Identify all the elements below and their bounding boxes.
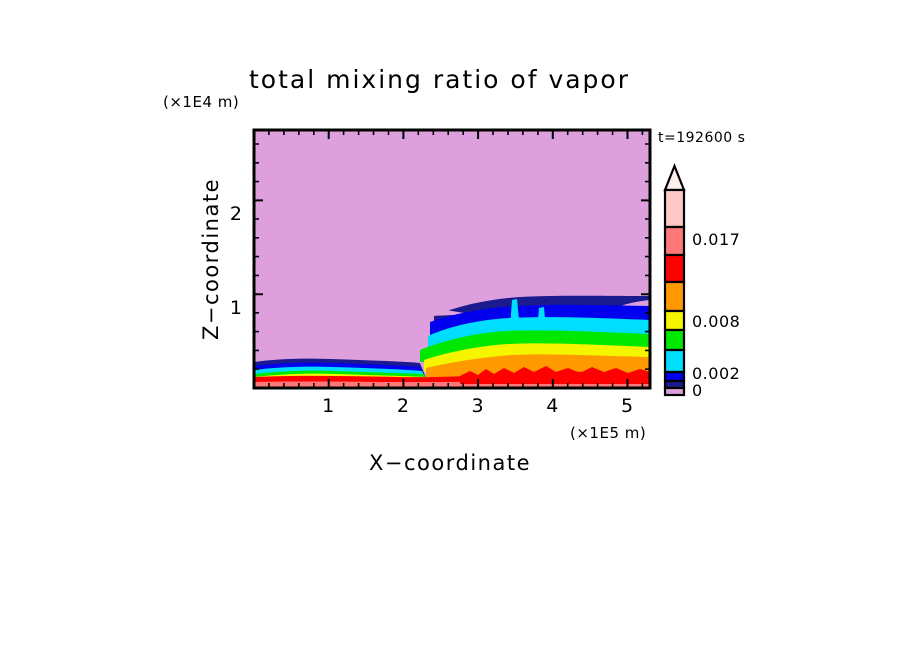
- colorbar-band-0.006: [665, 311, 684, 330]
- colorbar-band-0.014: [665, 227, 684, 255]
- page-title: total mixing ratio of vapor: [249, 65, 630, 94]
- colorbar-band-0.011: [665, 255, 684, 282]
- colorbar-band-0.017: [665, 190, 684, 227]
- x-tick-label-1: 1: [322, 395, 335, 417]
- contour-figure: total mixing ratio of vapor (×1E4 m) t=1…: [0, 0, 904, 654]
- colorbar-band-0.001: [665, 372, 684, 381]
- y-tick-label-2: 2: [230, 203, 243, 225]
- y-axis-unit-label: (×1E4 m): [163, 93, 239, 111]
- x-axis-title: X−coordinate: [369, 451, 531, 475]
- colorbar-label-0.008: 0.008: [692, 312, 740, 331]
- colorbar-band-0.004: [665, 330, 684, 350]
- x-tick-label-2: 2: [397, 395, 410, 417]
- y-axis-title: Z−coordinate: [199, 178, 223, 340]
- y-tick-label-1: 1: [230, 297, 243, 319]
- colorbar-band-0: [665, 388, 684, 395]
- colorbar-band-0.002: [665, 350, 684, 372]
- x-tick-label-4: 4: [546, 395, 559, 417]
- contour-plot-area: 1 2 3 4 5 1 2: [230, 130, 650, 417]
- colorbar-label-0.017: 0.017: [692, 230, 740, 249]
- time-annotation: t=192600 s: [658, 130, 745, 146]
- x-tick-label-5: 5: [621, 395, 634, 417]
- x-axis-unit-label: (×1E5 m): [570, 424, 646, 442]
- x-tick-label-3: 3: [472, 395, 485, 417]
- colorbar-label-0: 0: [692, 381, 703, 400]
- colorbar-band-0.008: [665, 282, 684, 311]
- contour-field: [254, 130, 650, 388]
